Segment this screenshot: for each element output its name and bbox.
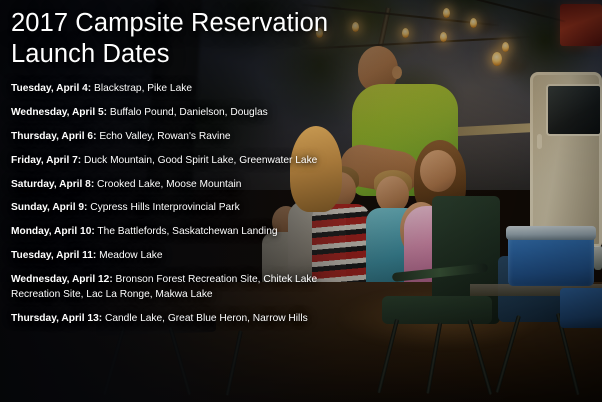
- entry-date: Tuesday, April 4:: [11, 83, 91, 94]
- launch-date-entry: Friday, April 7: Duck Mountain, Good Spi…: [11, 154, 361, 169]
- launch-date-entry: Sunday, April 9: Cypress Hills Interprov…: [11, 201, 361, 216]
- launch-date-entry: Thursday, April 6: Echo Valley, Rowan's …: [11, 130, 361, 145]
- entry-parks: Candle Lake, Great Blue Heron, Narrow Hi…: [102, 313, 308, 324]
- entry-date: Thursday, April 6:: [11, 131, 96, 142]
- entry-date: Saturday, April 8:: [11, 179, 94, 190]
- entry-parks: Blackstrap, Pike Lake: [91, 83, 192, 94]
- entry-parks: Cypress Hills Interprovincial Park: [87, 202, 239, 213]
- entry-date: Thursday, April 13:: [11, 313, 102, 324]
- launch-date-entry: Wednesday, April 5: Buffalo Pound, Danie…: [11, 106, 361, 121]
- page-title: 2017 Campsite ReservationLaunch Dates: [11, 8, 411, 70]
- entry-parks: Echo Valley, Rowan's Ravine: [96, 131, 230, 142]
- entry-date: Wednesday, April 12:: [11, 274, 113, 285]
- launch-date-entry: Tuesday, April 11: Meadow Lake: [11, 249, 361, 264]
- campsite-reservation-poster: 2017 Campsite ReservationLaunch Dates Tu…: [0, 0, 602, 402]
- entry-parks: Buffalo Pound, Danielson, Douglas: [107, 107, 268, 118]
- page-title-line: 2017 Campsite Reservation: [11, 9, 328, 37]
- entry-parks: The Battlefords, Saskatchewan Landing: [95, 226, 278, 237]
- entry-date: Tuesday, April 11:: [11, 250, 96, 261]
- entry-date: Wednesday, April 5:: [11, 107, 107, 118]
- launch-date-entry: Monday, April 10: The Battlefords, Saska…: [11, 225, 361, 240]
- entry-date: Friday, April 7:: [11, 155, 81, 166]
- entry-parks: Duck Mountain, Good Spirit Lake, Greenwa…: [81, 155, 317, 166]
- poster-content: 2017 Campsite ReservationLaunch Dates Tu…: [0, 0, 602, 402]
- entry-date: Monday, April 10:: [11, 226, 95, 237]
- launch-date-entry: Thursday, April 13: Candle Lake, Great B…: [11, 312, 361, 327]
- entry-parks: Crooked Lake, Moose Mountain: [94, 179, 241, 190]
- entry-parks: Meadow Lake: [96, 250, 162, 261]
- page-title-line: Launch Dates: [11, 40, 170, 68]
- launch-date-entry: Tuesday, April 4: Blackstrap, Pike Lake: [11, 82, 361, 97]
- entry-date: Sunday, April 9:: [11, 202, 87, 213]
- launch-date-list: Tuesday, April 4: Blackstrap, Pike LakeW…: [11, 82, 602, 326]
- launch-date-entry: Wednesday, April 12: Bronson Forest Recr…: [11, 273, 361, 302]
- launch-date-entry: Saturday, April 8: Crooked Lake, Moose M…: [11, 178, 361, 193]
